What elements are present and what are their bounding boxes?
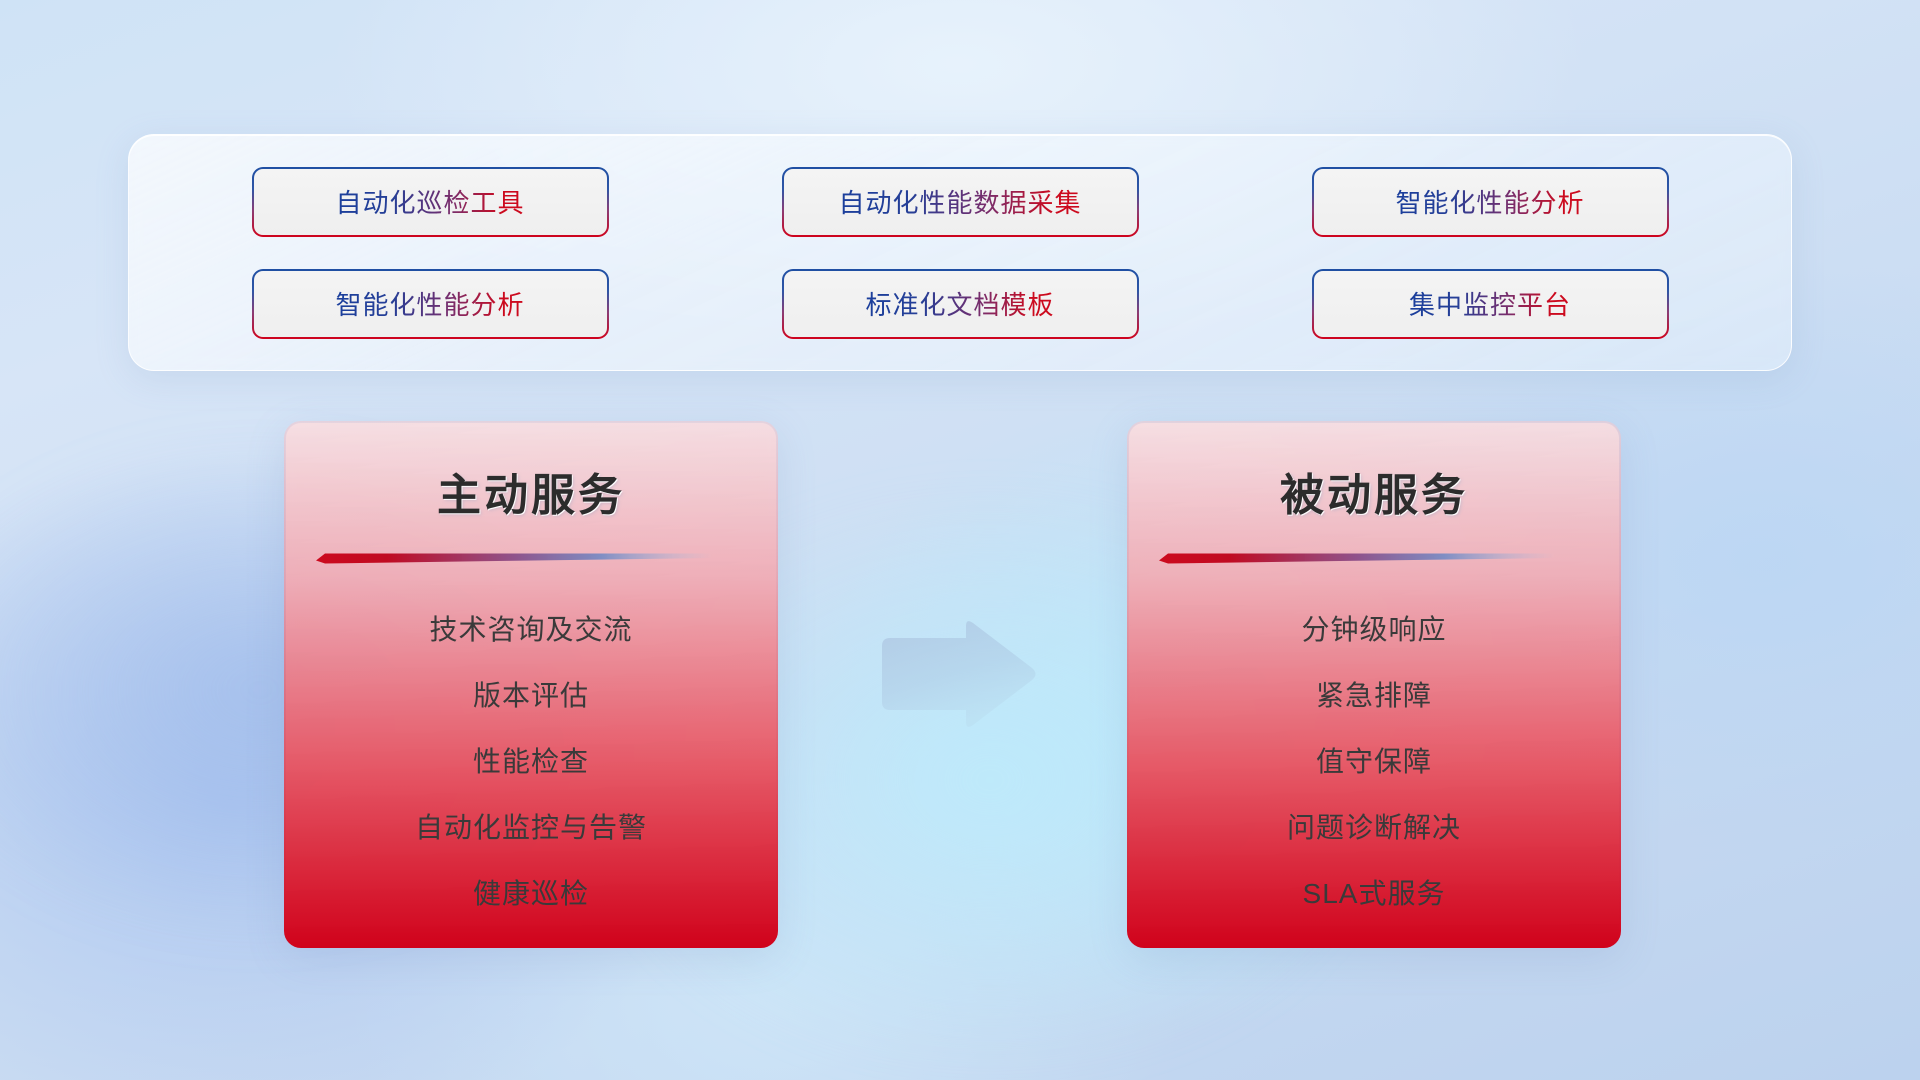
capability-tag-label: 智能化性能分析 [335, 285, 524, 322]
service-card-reactive[interactable]: 被动服务 分钟级响应 紧急排障 值守保障 问题诊断解决 [1128, 422, 1620, 947]
card-title: 主动服务 [308, 459, 754, 523]
service-list-item[interactable]: 自动化监控与告警 [308, 793, 754, 859]
service-card-proactive[interactable]: 主动服务 技术咨询及交流 版本评估 性能检查 自动化监控与告警 [285, 422, 777, 947]
title-divider [316, 551, 754, 565]
service-list-item[interactable]: 值守保障 [1151, 727, 1597, 793]
capability-tag-label: 自动化巡检工具 [335, 183, 524, 220]
capability-tag-label: 集中监控平台 [1409, 285, 1571, 322]
service-list-item[interactable]: 版本评估 [308, 661, 754, 727]
service-list-item[interactable]: 分钟级响应 [1151, 595, 1597, 661]
capability-tag-5[interactable]: 集中监控平台 [1312, 269, 1669, 339]
capability-tag-3[interactable]: 智能化性能分析 [252, 269, 609, 339]
card-title: 被动服务 [1151, 459, 1597, 523]
arrow-right-icon [874, 618, 1038, 730]
service-list-item[interactable]: 性能检查 [308, 727, 754, 793]
service-item-list: 技术咨询及交流 版本评估 性能检查 自动化监控与告警 健康巡检 [308, 595, 754, 925]
capability-tag-1[interactable]: 自动化性能数据采集 [782, 167, 1139, 237]
capability-tag-2[interactable]: 智能化性能分析 [1312, 167, 1669, 237]
service-list-item[interactable]: 技术咨询及交流 [308, 595, 754, 661]
service-list-item[interactable]: 问题诊断解决 [1151, 793, 1597, 859]
capability-tag-grid: 自动化巡检工具 自动化性能数据采集 智能化性能分析 智能化性能分析 标准化文档模… [129, 167, 1791, 339]
capability-tag-label: 智能化性能分析 [1395, 183, 1584, 220]
service-item-list: 分钟级响应 紧急排障 值守保障 问题诊断解决 SLA式服务 [1151, 595, 1597, 925]
capability-tag-label: 标准化文档模板 [865, 285, 1054, 322]
capability-tag-0[interactable]: 自动化巡检工具 [252, 167, 609, 237]
capability-panel: 自动化巡检工具 自动化性能数据采集 智能化性能分析 智能化性能分析 标准化文档模… [128, 134, 1792, 371]
capability-tag-label: 自动化性能数据采集 [838, 183, 1081, 220]
slide-canvas: 自动化巡检工具 自动化性能数据采集 智能化性能分析 智能化性能分析 标准化文档模… [0, 0, 1920, 1080]
service-list-item[interactable]: 紧急排障 [1151, 661, 1597, 727]
service-list-item[interactable]: SLA式服务 [1151, 859, 1597, 925]
capability-tag-4[interactable]: 标准化文档模板 [782, 269, 1139, 339]
service-list-item[interactable]: 健康巡检 [308, 859, 754, 925]
title-divider [1159, 551, 1597, 565]
